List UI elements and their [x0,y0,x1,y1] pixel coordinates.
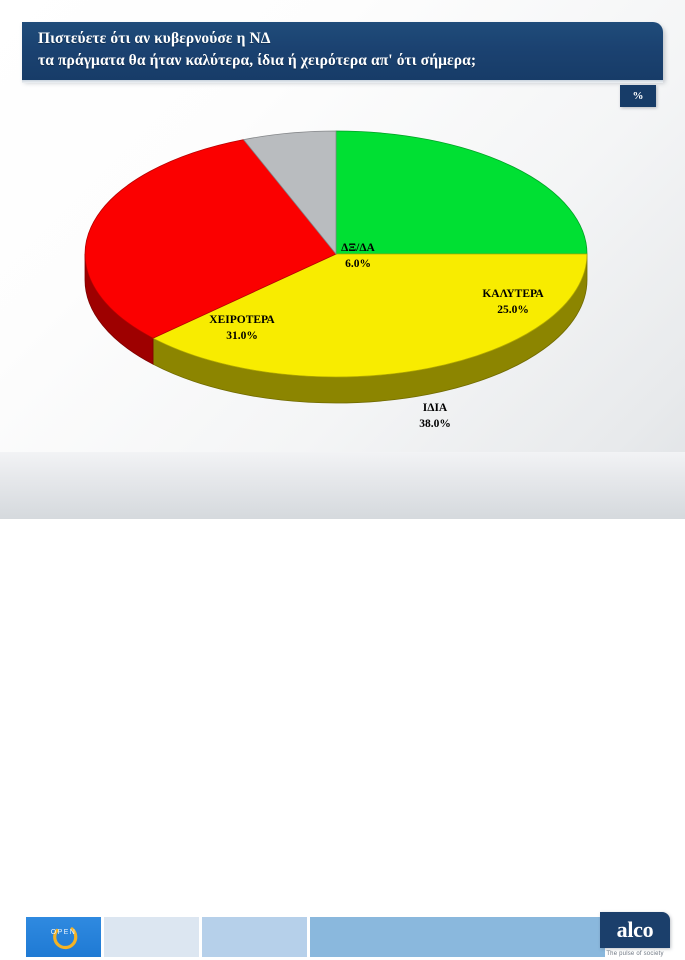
percent-unit-badge: % [620,85,656,107]
footer-bar-segment-3 [202,917,307,957]
pie-chart-svg [60,105,620,445]
alco-logo: alco The pulse of society [600,912,670,960]
header-bar: Πιστεύετε ότι αν κυβερνούσε η ΝΔ τα πράγ… [22,22,663,80]
alco-tagline: The pulse of society [600,951,670,957]
slide-canvas: Πιστεύετε ότι αν κυβερνούσε η ΝΔ τα πράγ… [0,0,685,519]
footer-bar-segment-2 [104,917,199,957]
alco-wordmark: alco [617,919,654,941]
footer-color-bars: OPEN [26,917,605,957]
alco-logo-box: alco [600,912,670,948]
open-logo: OPEN [26,917,101,957]
page-title: Πιστεύετε ότι αν κυβερνούσε η ΝΔ τα πράγ… [38,28,653,72]
footer-bar-segment-4 [310,917,605,957]
open-arc-icon [48,922,78,952]
footer-bar: OPEN alco The pulse of society [0,452,685,519]
header-underline [22,80,663,83]
pie-chart: ΚΑΛΥΤΕΡΑ 25.0% ΙΔΙΑ 38.0% ΧΕΙΡΟΤΕΡΑ 31.0… [60,105,620,445]
open-logo-text: OPEN [26,929,101,936]
percent-unit-label: % [633,90,644,102]
pie-slice-0[interactable] [336,131,587,254]
